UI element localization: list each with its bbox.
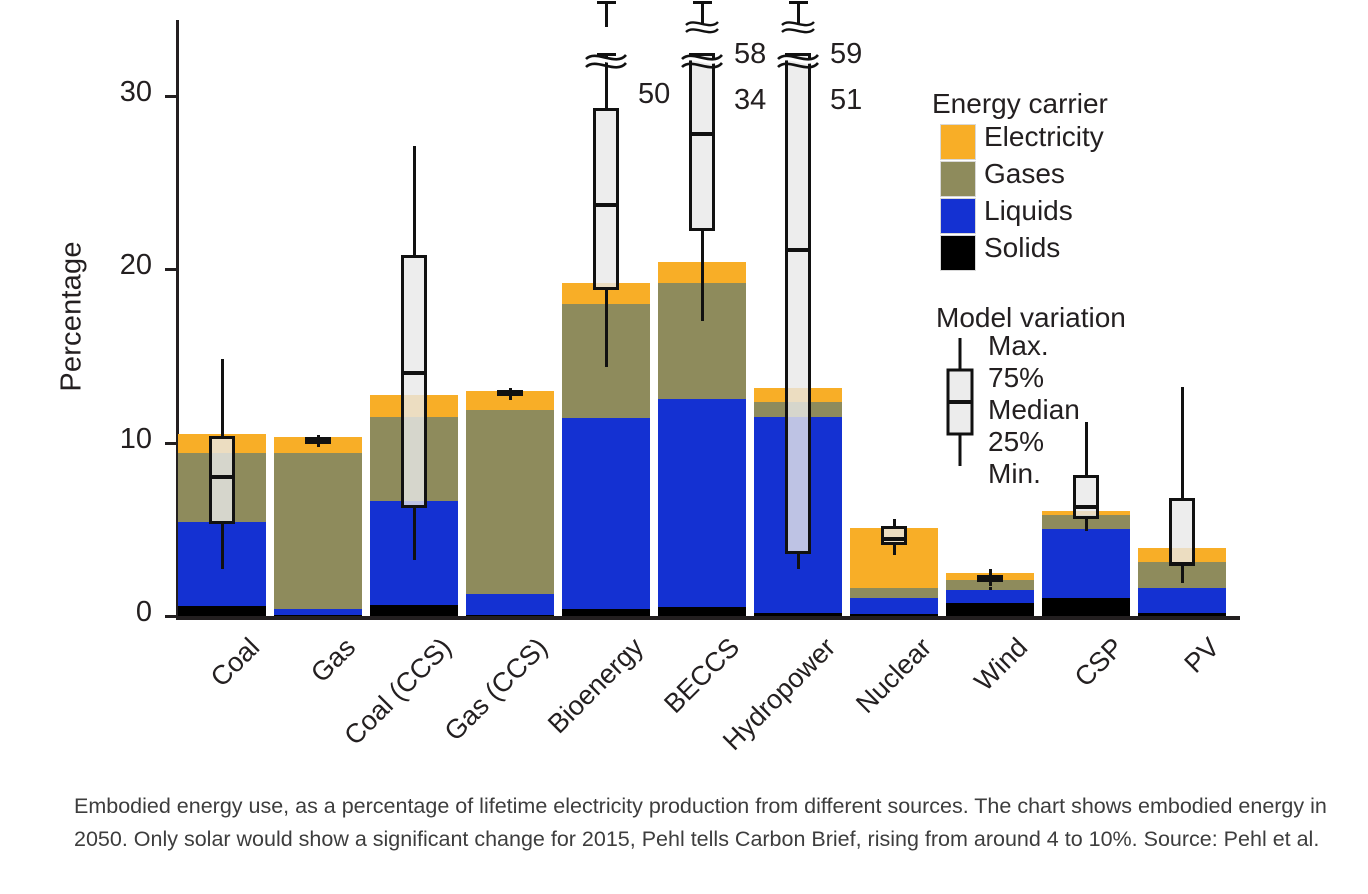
boxplot-min-cap [413, 557, 416, 560]
chart-plot-area: Percentage 0102030 CoalGasCoal (CCS)Gas … [0, 0, 1368, 780]
boxplot-min-cap [893, 552, 896, 555]
boxplot-bioenergy [593, 0, 619, 616]
legend-energy-carrier-title: Energy carrier [932, 88, 1108, 120]
axis-break-marker-upper [684, 21, 720, 37]
boxplot-offscale-max-cap [789, 1, 808, 4]
boxplot-upper-whisker [413, 146, 416, 255]
boxplot-median [305, 440, 331, 444]
boxplot-coal [209, 0, 235, 616]
boxplot-min-cap [605, 364, 608, 367]
boxplot-median [209, 475, 235, 479]
boxplot-max-cap [989, 569, 992, 572]
boxplot-lower-whisker [797, 554, 800, 566]
legend-swatch-solids[interactable] [940, 235, 976, 271]
boxplot-median [977, 578, 1003, 582]
boxplot-box [1169, 498, 1195, 566]
boxplot-median [689, 132, 715, 136]
boxplot-median [401, 371, 427, 375]
boxplot-min-cap [797, 566, 800, 569]
boxplot-box [881, 526, 907, 545]
boxplot-box [209, 436, 235, 524]
boxplot-gas [305, 0, 331, 616]
boxplot-max-cap [221, 359, 224, 362]
boxplot-median [1169, 562, 1195, 566]
boxplot-box [401, 255, 427, 508]
boxplot-min-cap [221, 566, 224, 569]
boxplot-max-cap [1181, 387, 1184, 390]
boxplot-median [881, 537, 907, 541]
legend-label-electricity: Electricity [984, 121, 1104, 153]
boxplot-box [593, 108, 619, 290]
bars-layer [0, 0, 1368, 620]
boxplot-upper-whisker [1085, 422, 1088, 476]
x-axis-label-coal: Coal [94, 632, 266, 804]
boxplot-lower-whisker [893, 545, 896, 552]
boxplot-min-cap [317, 444, 320, 447]
legend-swatch-liquids[interactable] [940, 198, 976, 234]
legend-boxplot-glyph [944, 336, 976, 468]
x-axis-label-csp: CSP [958, 632, 1130, 804]
boxplot-box [1073, 475, 1099, 518]
boxplot-median [1073, 505, 1099, 509]
boxplot-upper-whisker [221, 359, 224, 435]
boxplot-lower-whisker [1085, 519, 1088, 529]
axis-break-marker [584, 53, 628, 73]
legend-label-solids: Solids [984, 232, 1060, 264]
annotation-bioenergy-max: 50 [638, 78, 670, 111]
x-axis-label-wind: Wind [862, 632, 1034, 804]
boxplot-offscale-max-cap [693, 1, 712, 4]
figure-caption: Embodied energy use, as a percentage of … [74, 790, 1336, 856]
boxplot-min-cap [509, 397, 512, 400]
boxplot-min-cap [1181, 580, 1184, 583]
legend-variation-75: 75% [988, 362, 1044, 394]
boxplot-beccs [689, 0, 715, 616]
boxplot-max-cap [1085, 422, 1088, 425]
legend-variation-max: Max. [988, 330, 1049, 362]
boxplot-lower-whisker [605, 290, 608, 365]
axis-break-marker [680, 53, 724, 73]
legend-swatch-gases[interactable] [940, 161, 976, 197]
x-axis-label-hydropower: Hydropower [670, 632, 842, 804]
boxplot-lower-whisker [1181, 566, 1184, 580]
boxplot-offscale-max-cap [597, 1, 616, 4]
boxplot-coal-ccs [401, 0, 427, 616]
boxplot-min-cap [989, 587, 992, 590]
boxplot-nuclear [881, 0, 907, 616]
axis-break-marker [776, 53, 820, 73]
boxplot-gas-ccs [497, 0, 523, 616]
boxplot-hydropower [785, 0, 811, 616]
boxplot-offscale-whisker [605, 1, 608, 27]
boxplot-median [593, 203, 619, 207]
axis-break-marker-upper [780, 21, 816, 37]
boxplot-min-cap [701, 318, 704, 321]
legend-variation-min: Min. [988, 458, 1041, 490]
legend-swatch-electricity[interactable] [940, 124, 976, 160]
legend-variation-25: 25% [988, 426, 1044, 458]
annotation-hydropower-q3: 51 [830, 84, 862, 117]
legend-label-liquids: Liquids [984, 195, 1073, 227]
legend-variation-median: Median [988, 394, 1080, 426]
boxplot-median [497, 392, 523, 396]
annotation-beccs-max: 58 [734, 38, 766, 71]
boxplot-lower-whisker [413, 508, 416, 557]
boxplot-median [785, 248, 811, 252]
legend-label-gases: Gases [984, 158, 1065, 190]
boxplot-max-cap [413, 146, 416, 149]
boxplot-max-cap [893, 519, 896, 522]
x-axis-label-coal-ccs: Coal (CCS) [286, 632, 458, 804]
annotation-hydropower-max: 59 [830, 38, 862, 71]
annotation-beccs-q3: 34 [734, 84, 766, 117]
x-axis-label-bioenergy: Bioenergy [478, 632, 650, 804]
boxplot-min-cap [1085, 528, 1088, 531]
x-axis-label-pv: PV [1054, 632, 1226, 804]
boxplot-upper-whisker [1181, 387, 1184, 498]
boxplot-box [785, 53, 811, 554]
x-axis-label-nuclear: Nuclear [766, 632, 938, 804]
boxplot-pv [1169, 0, 1195, 616]
boxplot-box [689, 53, 715, 231]
boxplot-lower-whisker [701, 231, 704, 318]
boxplot-lower-whisker [221, 524, 224, 566]
figure-root: Percentage 0102030 CoalGasCoal (CCS)Gas … [0, 0, 1368, 894]
x-axis-label-gas: Gas [190, 632, 362, 804]
x-axis-label-beccs: BECCS [574, 632, 746, 804]
x-axis-label-gas-ccs: Gas (CCS) [382, 632, 554, 804]
